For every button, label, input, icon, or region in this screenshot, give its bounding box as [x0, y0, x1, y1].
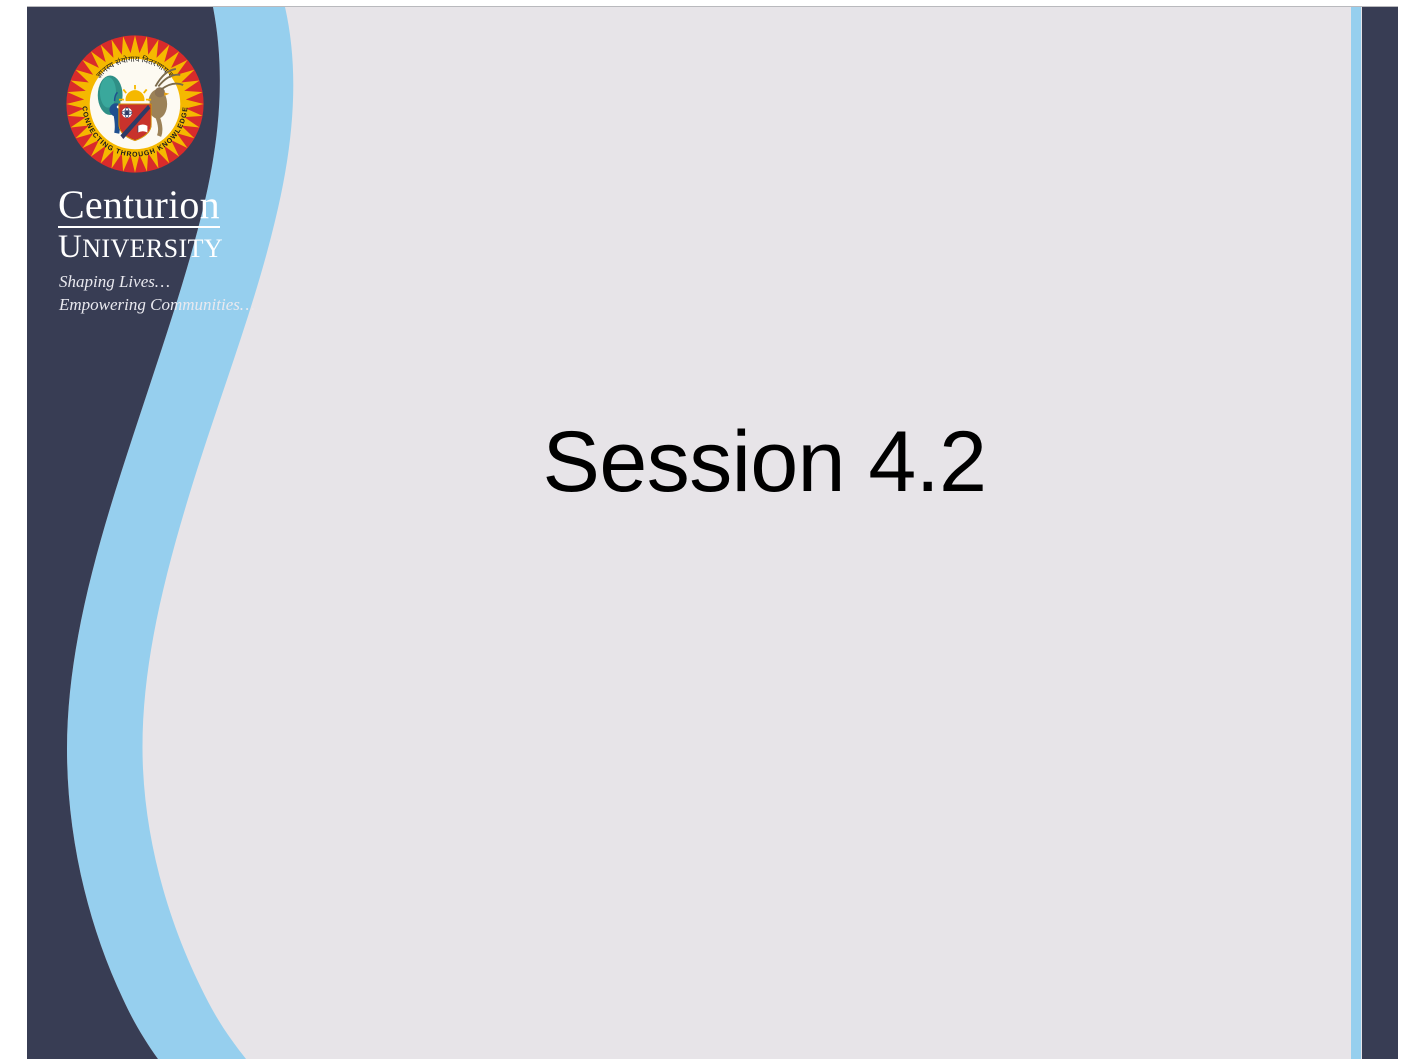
university-wordmark: Centurion UNIVERSITY: [56, 185, 276, 264]
slide-root: ज्ञानस्य संयोगाय वितरणाय च: [0, 0, 1411, 1058]
seal-shield: [119, 104, 151, 141]
slide-title: Session 4.2: [227, 414, 1302, 510]
slide-canvas: ज्ञानस्य संयोगाय वितरणाय च: [27, 6, 1398, 1059]
university-seal-svg: ज्ञानस्य संयोगाय वितरणाय च: [62, 31, 208, 177]
brand-lockup: ज्ञानस्य संयोगाय वितरणाय च: [56, 31, 276, 316]
tagline-line-1: Shaping Lives…: [59, 271, 276, 294]
right-navy-band: [1362, 7, 1398, 1059]
university-seal-icon: ज्ञानस्य संयोगाय वितरणाय च: [62, 31, 208, 177]
tagline-line-2: Empowering Communities…: [59, 294, 276, 317]
wordmark-university-initial: U: [58, 229, 82, 265]
right-blue-stripe: [1351, 7, 1361, 1059]
wordmark-centurion: Centurion: [58, 185, 220, 228]
wordmark-university: UNIVERSITY: [58, 231, 276, 264]
university-tagline: Shaping Lives… Empowering Communities…: [56, 271, 276, 316]
wordmark-university-rest: NIVERSITY: [82, 234, 223, 263]
